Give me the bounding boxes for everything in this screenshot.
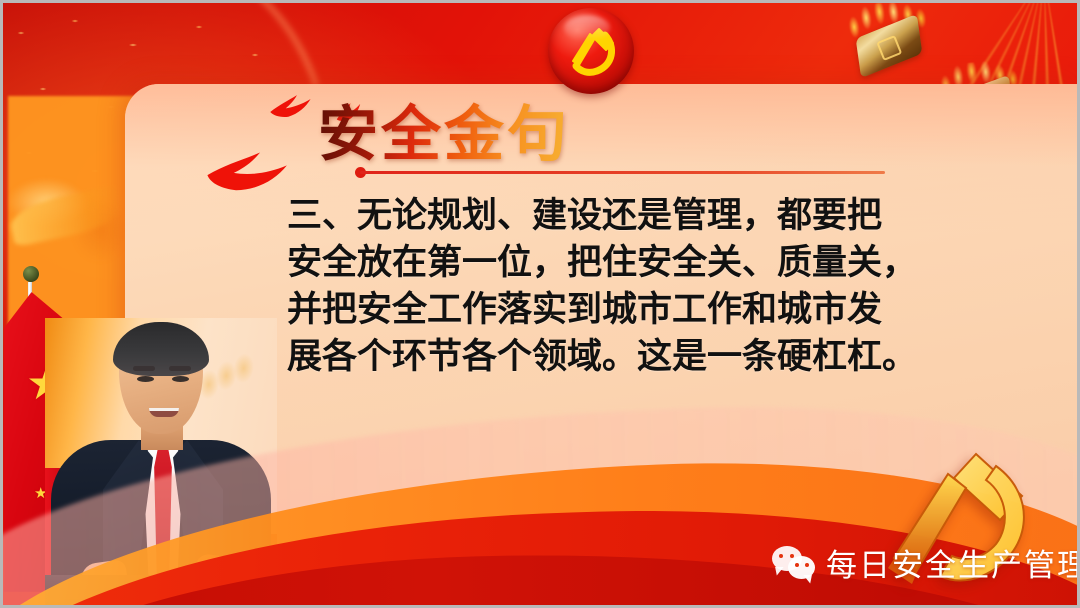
- wechat-icon: [772, 546, 816, 580]
- badge-gloss-highlight: [564, 15, 610, 41]
- quote-line: 三、无论规划、建设还是管理，都要把: [287, 193, 947, 240]
- watermark: 每日安全生产管理: [772, 540, 1080, 585]
- watermark-text: 每日安全生产管理: [826, 540, 1080, 585]
- presentation-slide: ★ ★ ★ ★ ★ 安全金句: [0, 0, 1080, 608]
- flag-pole-finial: [23, 266, 39, 282]
- party-emblem-badge: [548, 8, 634, 94]
- quote-line: 安全放在第一位，把住安全关、质量关，: [287, 240, 947, 287]
- wechat-eye-1: [779, 554, 783, 558]
- quote-line: 并把安全工作落实到城市工作和城市发: [287, 287, 947, 334]
- wechat-eye-3: [795, 563, 799, 567]
- page-title: 安全金句: [318, 86, 570, 173]
- wechat-eye-4: [805, 563, 809, 567]
- quote-text-block: 三、无论规划、建设还是管理，都要把 安全放在第一位，把住安全关、质量关， 并把安…: [287, 193, 947, 381]
- wechat-eye-2: [790, 554, 794, 558]
- wechat-bubble-front: [788, 556, 815, 579]
- title-divider: [360, 171, 885, 174]
